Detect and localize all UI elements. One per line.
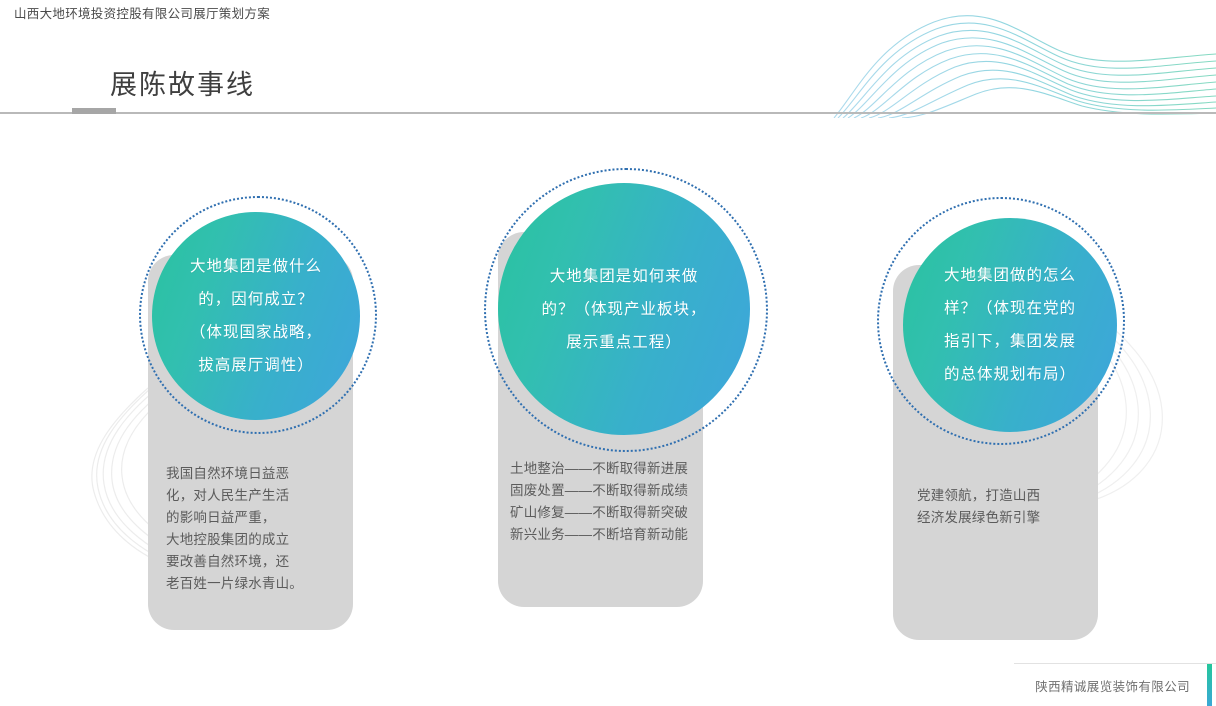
story-bubble-3-line: 指引下，集团发展: [944, 325, 1076, 358]
footer-divider: [1014, 663, 1216, 664]
wave-decoration-icon: [826, 0, 1216, 118]
story-bubble-3-text: 大地集团做的怎么 样？（体现在党的 指引下，集团发展 的总体规划布局）: [944, 259, 1076, 391]
story-card-2-body-line: 矿山修复——不断取得新突破: [510, 502, 691, 524]
story-card-3-body-line: 党建领航，打造山西: [917, 485, 1074, 507]
footer-accent-bar: [1207, 664, 1212, 706]
story-card-1-body-line: 大地控股集团的成立: [166, 529, 335, 551]
story-bubble-2[interactable]: 大地集团是如何来做 的？（体现产业板块， 展示重点工程）: [498, 183, 750, 435]
story-bubble-3-line: 样？（体现在党的: [944, 292, 1076, 325]
header-divider: [0, 112, 1216, 114]
slide-canvas: 山西大地环境投资控股有限公司展厅策划方案 展陈故事线 我国自然环境日益恶 化，对…: [0, 0, 1216, 706]
story-card-2-body-line: 新兴业务——不断培育新动能: [510, 524, 691, 546]
story-card-2-body-line: 固废处置——不断取得新成绩: [510, 480, 691, 502]
story-bubble-1[interactable]: 大地集团是做什么 的，因何成立？ （体现国家战略， 拔高展厅调性）: [152, 212, 360, 420]
story-card-2-body: 土地整治——不断取得新进展 固废处置——不断取得新成绩 矿山修复——不断取得新突…: [498, 458, 703, 546]
story-card-1-body-line: 我国自然环境日益恶: [166, 463, 335, 485]
header-divider-accent: [72, 108, 116, 114]
story-bubble-1-text: 大地集团是做什么 的，因何成立？ （体现国家战略， 拔高展厅调性）: [190, 250, 322, 382]
story-card-1-body-line: 化，对人民生产生活: [166, 485, 335, 507]
story-bubble-3-line: 大地集团做的怎么: [944, 259, 1076, 292]
story-card-1-body-line: 老百姓一片绿水青山。: [166, 573, 335, 595]
story-bubble-2-text: 大地集团是如何来做 的？（体现产业板块， 展示重点工程）: [541, 260, 706, 359]
story-bubble-2-line: 展示重点工程）: [541, 326, 706, 359]
story-bubble-1-line: （体现国家战略，: [190, 316, 322, 349]
story-card-3-body: 党建领航，打造山西 经济发展绿色新引擎: [893, 485, 1098, 529]
story-bubble-2-line: 的？（体现产业板块，: [541, 293, 706, 326]
story-card-3-body-line: 经济发展绿色新引擎: [917, 507, 1074, 529]
story-card-1-body-line: 要改善自然环境，还: [166, 551, 335, 573]
story-bubble-1-line: 拔高展厅调性）: [190, 349, 322, 382]
document-subtitle: 山西大地环境投资控股有限公司展厅策划方案: [14, 3, 270, 22]
story-bubble-1-line: 的，因何成立？: [190, 283, 322, 316]
story-card-2-body-line: 土地整治——不断取得新进展: [510, 458, 691, 480]
story-bubble-3[interactable]: 大地集团做的怎么 样？（体现在党的 指引下，集团发展 的总体规划布局）: [903, 218, 1117, 432]
page-title: 展陈故事线: [110, 63, 255, 102]
story-card-1-body-line: 的影响日益严重，: [166, 507, 335, 529]
story-bubble-1-line: 大地集团是做什么: [190, 250, 322, 283]
footer-company-name: 陕西精诚展览装饰有限公司: [1035, 676, 1190, 695]
story-bubble-2-line: 大地集团是如何来做: [541, 260, 706, 293]
story-bubble-3-line: 的总体规划布局）: [944, 358, 1076, 391]
story-card-1-body: 我国自然环境日益恶 化，对人民生产生活 的影响日益严重， 大地控股集团的成立 要…: [148, 463, 353, 595]
